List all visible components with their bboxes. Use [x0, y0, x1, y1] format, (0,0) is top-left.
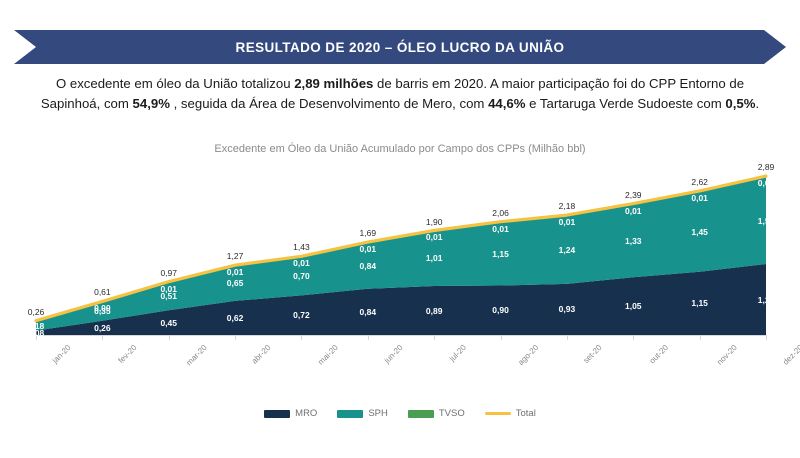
subtitle-text-3: , seguida da Área de Desenvolvimento de …: [170, 96, 488, 111]
label-tvso: 0,01: [691, 193, 708, 203]
label-total: 0,61: [94, 287, 111, 297]
legend-label: SPH: [368, 408, 388, 419]
label-total: 0,97: [160, 268, 177, 278]
legend-swatch-total-icon: [485, 412, 511, 415]
x-label-fev-20: fev-20: [117, 343, 139, 365]
x-tick: [102, 335, 103, 340]
subtitle-bold-mro-pct: 44,6%: [488, 96, 525, 111]
label-sph: 0,51: [160, 291, 177, 301]
x-label-out-20: out-20: [648, 343, 670, 365]
chart-title: Excedente em Óleo da União Acumulado por…: [0, 143, 800, 155]
legend-label: MRO: [295, 408, 317, 419]
banner-title: RESULTADO DE 2020 – ÓLEO LUCRO DA UNIÃO: [236, 40, 565, 55]
label-tvso: 0,01: [426, 232, 443, 242]
x-axis-line: [36, 335, 766, 336]
label-mro: 1,29: [758, 295, 775, 305]
subtitle-bold-total: 2,89 milhões: [294, 76, 373, 91]
label-mro: 0,84: [360, 307, 377, 317]
x-tick: [434, 335, 435, 340]
label-total: 0,26: [28, 307, 45, 317]
label-mro: 0,93: [559, 304, 576, 314]
label-tvso: 0,01: [625, 206, 642, 216]
legend-swatch-mro-icon: [264, 410, 290, 418]
label-mro: 0,62: [227, 313, 244, 323]
x-label-mai-20: mai-20: [317, 343, 341, 367]
label-sph: 1,45: [691, 227, 708, 237]
label-sph: 0,35: [94, 306, 111, 316]
label-total: 1,43: [293, 242, 310, 252]
label-mro: 0,08: [28, 328, 45, 338]
x-tick: [501, 335, 502, 340]
x-label-jun-20: jun-20: [382, 343, 404, 365]
label-sph: 1,58: [758, 216, 775, 226]
legend-label: TVSO: [439, 408, 465, 419]
label-sph: 0,70: [293, 271, 310, 281]
x-label-jul-20: jul-20: [448, 343, 468, 363]
label-total: 2,06: [492, 208, 509, 218]
legend-item-tvso[interactable]: TVSO: [408, 408, 465, 419]
legend-swatch-tvso-icon: [408, 410, 434, 418]
label-total: 2,18: [559, 201, 576, 211]
x-tick: [169, 335, 170, 340]
label-total: 1,27: [227, 251, 244, 261]
label-tvso: 0,01: [559, 217, 576, 227]
x-label-mar-20: mar-20: [184, 343, 208, 367]
subtitle-text-1: O excedente em óleo da União totalizou: [56, 76, 294, 91]
label-total: 2,89: [758, 162, 775, 172]
x-label-nov-20: nov-20: [715, 343, 739, 367]
label-sph: 1,15: [492, 249, 509, 259]
x-tick: [700, 335, 701, 340]
label-sph: 0,65: [227, 278, 244, 288]
banner-shape: RESULTADO DE 2020 – ÓLEO LUCRO DA UNIÃO: [14, 30, 786, 64]
legend-item-total[interactable]: Total: [485, 408, 536, 419]
plot-area: [36, 170, 766, 335]
x-label-abr-20: abr-20: [250, 343, 273, 366]
subtitle-text-4: e Tartaruga Verde Sudoeste com: [525, 96, 725, 111]
x-label-dez-20: dez-20: [781, 343, 800, 367]
label-tvso: 0,01: [360, 244, 377, 254]
subtitle-text-5: .: [755, 96, 759, 111]
label-mro: 1,05: [625, 301, 642, 311]
x-label-jan-20: jan-20: [51, 343, 73, 365]
area-chart: 0,260,180,080,610,000,350,260,970,010,51…: [36, 170, 766, 335]
label-total: 2,62: [691, 177, 708, 187]
label-mro: 0,26: [94, 323, 111, 333]
label-total: 1,69: [360, 228, 377, 238]
x-tick: [633, 335, 634, 340]
label-total: 2,39: [625, 190, 642, 200]
label-mro: 0,45: [160, 318, 177, 328]
chart-legend: MROSPHTVSOTotal: [0, 408, 800, 419]
subtitle-bold-sph-pct: 54,9%: [133, 96, 170, 111]
x-tick: [235, 335, 236, 340]
label-sph: 0,84: [360, 261, 377, 271]
label-sph: 1,01: [426, 253, 443, 263]
label-sph: 1,33: [625, 236, 642, 246]
label-tvso: 0,01: [293, 258, 310, 268]
label-mro: 0,89: [426, 306, 443, 316]
subtitle-bold-tvso-pct: 0,5%: [725, 96, 755, 111]
legend-item-sph[interactable]: SPH: [337, 408, 388, 419]
label-tvso: 0,01: [492, 224, 509, 234]
x-tick: [368, 335, 369, 340]
legend-label: Total: [516, 408, 536, 419]
label-mro: 0,72: [293, 310, 310, 320]
label-tvso: 0,01: [227, 267, 244, 277]
x-tick: [567, 335, 568, 340]
legend-swatch-sph-icon: [337, 410, 363, 418]
subtitle-paragraph: O excedente em óleo da União totalizou 2…: [40, 74, 760, 115]
label-mro: 0,90: [492, 305, 509, 315]
label-sph: 1,24: [559, 245, 576, 255]
chart-page: RESULTADO DE 2020 – ÓLEO LUCRO DA UNIÃO …: [0, 0, 800, 458]
x-tick: [766, 335, 767, 340]
x-tick: [301, 335, 302, 340]
x-label-ago-20: ago-20: [516, 343, 540, 367]
label-total: 1,90: [426, 217, 443, 227]
label-tvso: 0,02: [758, 178, 775, 188]
label-mro: 1,15: [691, 298, 708, 308]
x-label-set-20: set-20: [581, 343, 603, 365]
legend-item-mro[interactable]: MRO: [264, 408, 317, 419]
header-banner: RESULTADO DE 2020 – ÓLEO LUCRO DA UNIÃO: [14, 30, 786, 64]
